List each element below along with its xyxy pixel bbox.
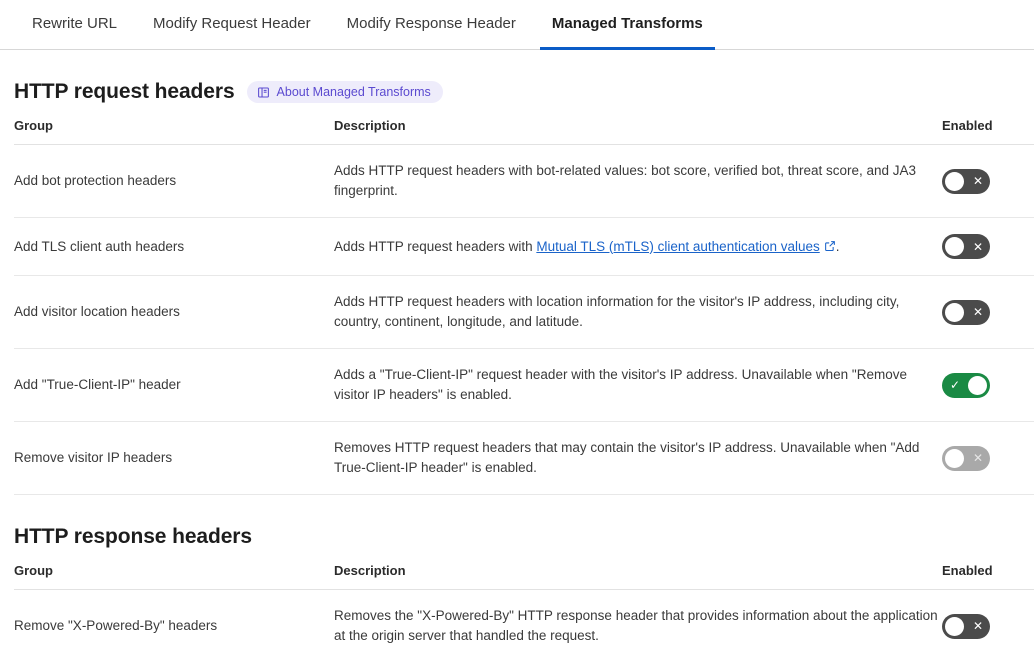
description-text-before: Adds HTTP request headers with	[334, 239, 536, 254]
table-row: Remove "X-Powered-By" headersRemoves the…	[14, 590, 1034, 653]
row-enabled: ✕	[942, 590, 1034, 653]
column-header-description: Description	[334, 563, 942, 590]
row-enabled: ✓	[942, 349, 1034, 422]
toggle-knob	[968, 376, 987, 395]
enabled-toggle: ✕	[942, 446, 990, 471]
about-badge-label: About Managed Transforms	[277, 85, 431, 99]
managed-transforms-table: GroupDescriptionEnabledRemove "X-Powered…	[14, 563, 1034, 653]
section-header: HTTP request headersAbout Managed Transf…	[14, 80, 1020, 104]
about-managed-transforms-badge[interactable]: About Managed Transforms	[247, 81, 443, 103]
column-header-group: Group	[14, 118, 334, 145]
row-enabled: ✕	[942, 145, 1034, 218]
external-link-icon	[824, 240, 836, 252]
row-enabled: ✕	[942, 218, 1034, 276]
row-group: Remove "X-Powered-By" headers	[14, 590, 334, 653]
description-text-after: .	[836, 239, 840, 254]
tab-rewrite-url[interactable]: Rewrite URL	[14, 0, 135, 49]
description-text: Adds a "True-Client-IP" request header w…	[334, 367, 907, 402]
toggle-mark: ✕	[973, 300, 983, 325]
section-1: HTTP response headersGroupDescriptionEna…	[0, 525, 1034, 653]
section-title: HTTP response headers	[14, 525, 252, 549]
toggle-knob	[945, 617, 964, 636]
row-description: Adds HTTP request headers with bot-relat…	[334, 145, 942, 218]
section-title: HTTP request headers	[14, 80, 235, 104]
column-header-enabled: Enabled	[942, 563, 1034, 590]
row-group: Add TLS client auth headers	[14, 218, 334, 276]
row-description: Removes the "X-Powered-By" HTTP response…	[334, 590, 942, 653]
row-description: Adds a "True-Client-IP" request header w…	[334, 349, 942, 422]
row-description: Adds HTTP request headers with Mutual TL…	[334, 218, 942, 276]
toggle-mark: ✓	[950, 373, 960, 398]
row-group: Add "True-Client-IP" header	[14, 349, 334, 422]
row-enabled: ✕	[942, 422, 1034, 495]
managed-transforms-table: GroupDescriptionEnabledAdd bot protectio…	[14, 118, 1034, 495]
column-header-enabled: Enabled	[942, 118, 1034, 145]
row-group: Add visitor location headers	[14, 276, 334, 349]
column-header-description: Description	[334, 118, 942, 145]
toggle-knob	[945, 237, 964, 256]
toggle-mark: ✕	[973, 446, 983, 471]
row-description: Adds HTTP request headers with location …	[334, 276, 942, 349]
table-row: Remove visitor IP headersRemoves HTTP re…	[14, 422, 1034, 495]
table-row: Add TLS client auth headersAdds HTTP req…	[14, 218, 1034, 276]
tab-modify-request-header[interactable]: Modify Request Header	[135, 0, 329, 49]
toggle-mark: ✕	[973, 234, 983, 259]
tab-modify-response-header[interactable]: Modify Response Header	[329, 0, 534, 49]
toggle-knob	[945, 172, 964, 191]
row-group: Remove visitor IP headers	[14, 422, 334, 495]
description-text: Removes the "X-Powered-By" HTTP response…	[334, 608, 938, 643]
description-text: Adds HTTP request headers with location …	[334, 294, 899, 329]
description-text: Adds HTTP request headers with bot-relat…	[334, 163, 916, 198]
tab-managed-transforms[interactable]: Managed Transforms	[534, 0, 721, 49]
section-0: HTTP request headersAbout Managed Transf…	[0, 80, 1034, 495]
enabled-toggle[interactable]: ✕	[942, 614, 990, 639]
enabled-toggle[interactable]: ✕	[942, 169, 990, 194]
book-icon	[257, 86, 270, 99]
toggle-mark: ✕	[973, 614, 983, 639]
mtls-docs-link[interactable]: Mutual TLS (mTLS) client authentication …	[536, 239, 819, 254]
toggle-mark: ✕	[973, 169, 983, 194]
row-description: Removes HTTP request headers that may co…	[334, 422, 942, 495]
row-enabled: ✕	[942, 276, 1034, 349]
row-group: Add bot protection headers	[14, 145, 334, 218]
tab-bar: Rewrite URLModify Request HeaderModify R…	[0, 0, 1034, 50]
toggle-knob	[945, 449, 964, 468]
toggle-knob	[945, 303, 964, 322]
enabled-toggle[interactable]: ✓	[942, 373, 990, 398]
table-row: Add visitor location headersAdds HTTP re…	[14, 276, 1034, 349]
table-row: Add bot protection headersAdds HTTP requ…	[14, 145, 1034, 218]
enabled-toggle[interactable]: ✕	[942, 234, 990, 259]
column-header-group: Group	[14, 563, 334, 590]
enabled-toggle[interactable]: ✕	[942, 300, 990, 325]
table-row: Add "True-Client-IP" headerAdds a "True-…	[14, 349, 1034, 422]
section-header: HTTP response headers	[14, 525, 1020, 549]
description-text: Removes HTTP request headers that may co…	[334, 440, 919, 475]
